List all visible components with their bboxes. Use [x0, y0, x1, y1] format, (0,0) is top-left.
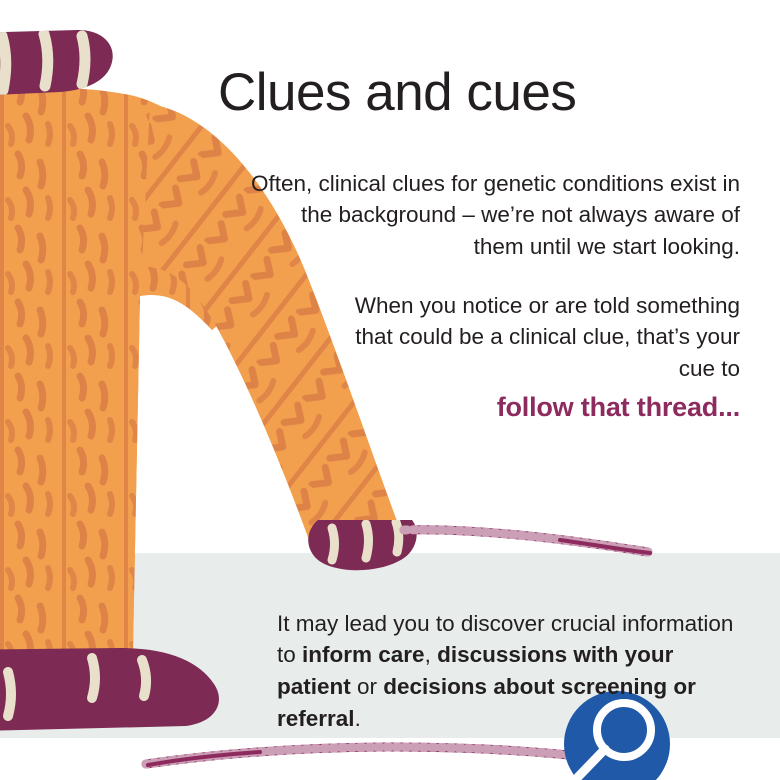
intro-paragraph: Often, clinical clues for genetic condit…	[250, 168, 740, 264]
outcome-note-text: or	[351, 674, 384, 699]
jumper-collar	[0, 30, 113, 98]
outcome-note-emphasis: inform care	[302, 642, 425, 667]
outcome-note-text: .	[355, 706, 361, 731]
cue-paragraph: When you notice or are told something th…	[340, 290, 740, 386]
outcome-note: It may lead you to discover crucial info…	[277, 608, 747, 736]
outcome-note-text: ,	[425, 642, 438, 667]
callout-follow-that-thread: follow that thread...	[340, 392, 740, 423]
page-title: Clues and cues	[218, 64, 638, 121]
poster-canvas: Clues and cues Often, clinical clues for…	[0, 0, 780, 780]
jumper-hem	[0, 648, 219, 732]
